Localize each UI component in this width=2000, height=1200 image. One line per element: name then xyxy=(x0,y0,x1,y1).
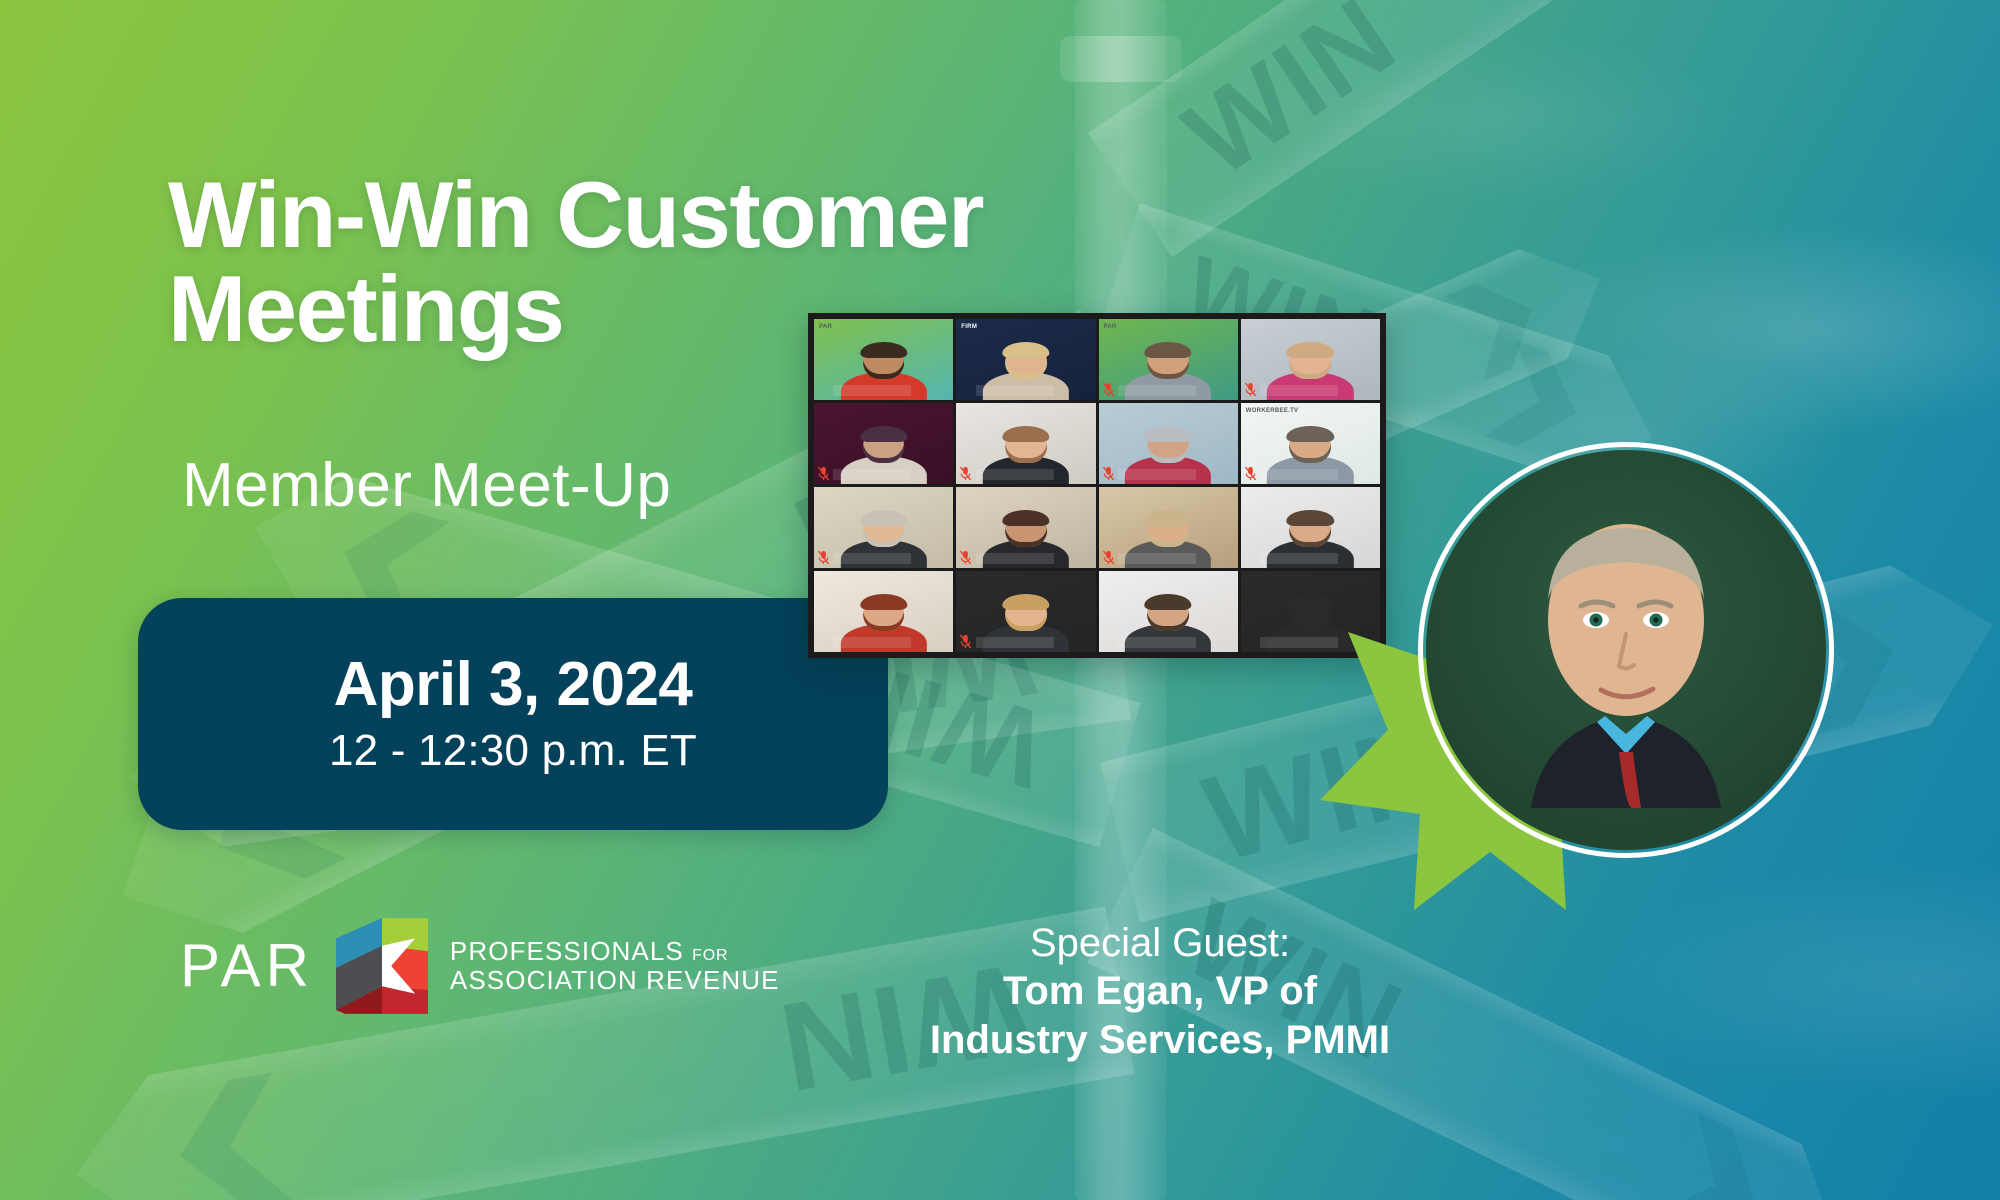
zoom-tile-8: WORKERBEE.TV xyxy=(1241,403,1380,484)
tile-brand-logo: PAR xyxy=(819,324,832,330)
tile-person-hair xyxy=(1287,426,1334,442)
mic-muted-icon xyxy=(1244,466,1257,481)
zoom-tile-6 xyxy=(956,403,1095,484)
par-logo: PAR PROFESSIONALS FOR ASSOCIATION REVENU… xyxy=(180,918,780,1014)
zoom-tile-14 xyxy=(956,571,1095,652)
zoom-tile-3: PAR xyxy=(1099,319,1238,400)
zoom-meeting-grid: PARFIRMPARWORKERBEE.TV xyxy=(808,313,1386,658)
sign-post-cap xyxy=(1060,36,1182,82)
guest-photo-ring xyxy=(1418,442,1834,858)
tile-name-label xyxy=(1260,553,1338,564)
special-guest-name-line2: Industry Services, PMMI xyxy=(880,1016,1440,1065)
logo-tagline: PROFESSIONALS FOR ASSOCIATION REVENUE xyxy=(450,937,780,995)
page-subtitle: Member Meet-Up xyxy=(182,450,671,521)
tile-name-label xyxy=(833,469,911,480)
tile-person-hair xyxy=(1002,594,1049,610)
tile-brand-logo: FIRM xyxy=(961,324,977,330)
zoom-tile-15 xyxy=(1099,571,1238,652)
tile-person-hair xyxy=(860,426,907,442)
promo-graphic: WINWINWINWINWINWINWINWINWIN Win-Win Cust… xyxy=(0,0,2000,1200)
tile-name-label xyxy=(1118,469,1196,480)
mic-muted-icon xyxy=(1102,382,1115,397)
logo-tagline-main: PROFESSIONALS xyxy=(450,936,684,966)
zoom-tile-1: PAR xyxy=(814,319,953,400)
zoom-tile-11 xyxy=(1099,487,1238,568)
tile-name-label xyxy=(976,385,1054,396)
mic-muted-icon xyxy=(817,466,830,481)
tile-person-hair xyxy=(1144,342,1191,358)
tile-name-label xyxy=(1118,637,1196,648)
special-guest-name-line1: Tom Egan, VP of xyxy=(880,967,1440,1016)
special-guest-label: Special Guest: xyxy=(880,920,1440,967)
mic-muted-icon xyxy=(1102,550,1115,565)
mic-muted-icon xyxy=(1102,466,1115,481)
tile-name-label xyxy=(833,637,911,648)
tile-person-hair xyxy=(860,510,907,526)
tile-name-label xyxy=(1260,469,1338,480)
tile-person-hair xyxy=(1287,510,1334,526)
tile-person-hair xyxy=(860,594,907,610)
tile-person-hair xyxy=(1002,342,1049,358)
tile-person-hair xyxy=(1144,594,1191,610)
mic-muted-icon xyxy=(817,550,830,565)
tile-person-hair xyxy=(1144,426,1191,442)
date-badge: April 3, 2024 12 - 12:30 p.m. ET xyxy=(138,598,888,830)
tile-brand-logo: PAR xyxy=(1104,324,1117,330)
event-time: 12 - 12:30 p.m. ET xyxy=(329,726,697,776)
zoom-tile-7 xyxy=(1099,403,1238,484)
zoom-tile-9 xyxy=(814,487,953,568)
zoom-tile-13 xyxy=(814,571,953,652)
event-date: April 3, 2024 xyxy=(334,652,693,717)
zoom-tile-4 xyxy=(1241,319,1380,400)
zoom-tile-12 xyxy=(1241,487,1380,568)
tile-name-label xyxy=(833,553,911,564)
tile-person-hair xyxy=(1287,342,1334,358)
mic-muted-icon xyxy=(959,550,972,565)
par-cube-icon xyxy=(336,918,428,1014)
tile-person-hair xyxy=(1002,426,1049,442)
tile-name-label xyxy=(1118,553,1196,564)
tile-name-label xyxy=(833,385,911,396)
tile-name-label xyxy=(976,553,1054,564)
mic-muted-icon xyxy=(1244,382,1257,397)
logo-tagline-line1: PROFESSIONALS FOR xyxy=(450,937,780,966)
mic-muted-icon xyxy=(959,466,972,481)
special-guest-caption: Special Guest: Tom Egan, VP of Industry … xyxy=(880,920,1440,1065)
logo-wordmark: PAR xyxy=(180,936,314,996)
tile-person-hair xyxy=(1144,510,1191,526)
zoom-tile-5 xyxy=(814,403,953,484)
tile-name-label xyxy=(1118,385,1196,396)
tile-brand-logo: WORKERBEE.TV xyxy=(1246,408,1299,414)
logo-tagline-line2: ASSOCIATION REVENUE xyxy=(450,966,780,995)
tile-person-hair xyxy=(1002,510,1049,526)
zoom-tile-10 xyxy=(956,487,1095,568)
tile-name-label xyxy=(1260,385,1338,396)
tile-name-label xyxy=(976,469,1054,480)
tile-name-label xyxy=(976,637,1054,648)
zoom-tile-2: FIRM xyxy=(956,319,1095,400)
logo-tagline-for: FOR xyxy=(692,947,728,964)
mic-muted-icon xyxy=(959,634,972,649)
tile-person-hair xyxy=(860,342,907,358)
